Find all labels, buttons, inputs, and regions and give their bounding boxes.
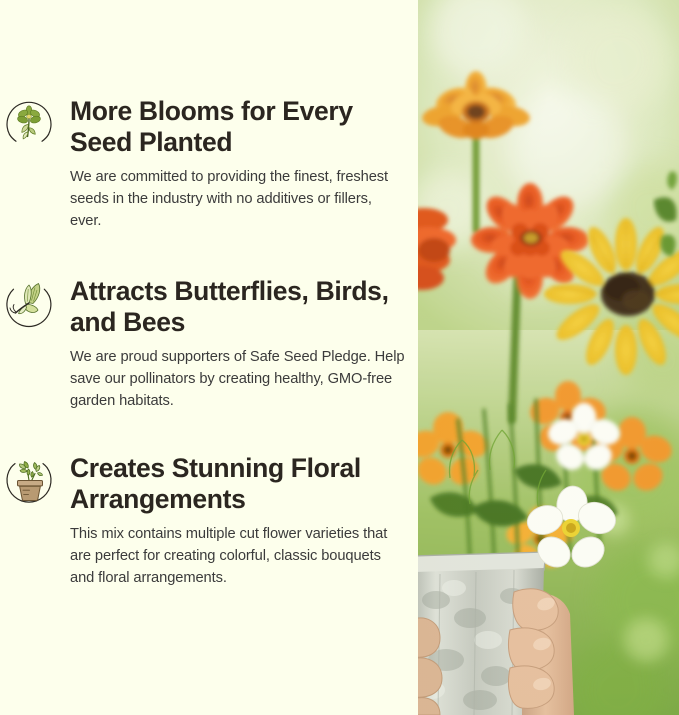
feature-title: More Blooms for Every Seed Planted bbox=[70, 96, 406, 159]
feature-description: We are proud supporters of Safe Seed Ple… bbox=[70, 346, 406, 412]
flower-in-circle-icon bbox=[2, 96, 56, 150]
feature-text-block: More Blooms for Every Seed Planted We ar… bbox=[56, 96, 418, 232]
feature-description: This mix contains multiple cut flower va… bbox=[70, 523, 406, 589]
features-list: More Blooms for Every Seed Planted We ar… bbox=[0, 0, 418, 715]
photo-illustration bbox=[418, 0, 679, 715]
feature-description: We are committed to providing the finest… bbox=[70, 166, 406, 232]
product-photo bbox=[418, 0, 679, 715]
feature-title: Attracts Butterflies, Birds, and Bees bbox=[70, 276, 406, 339]
feature-text-block: Creates Stunning Floral Arrangements Thi… bbox=[56, 453, 418, 589]
feature-text-block: Attracts Butterflies, Birds, and Bees We… bbox=[56, 276, 418, 412]
feature-title: Creates Stunning Floral Arrangements bbox=[70, 453, 406, 516]
feature-item-more-blooms: More Blooms for Every Seed Planted We ar… bbox=[0, 96, 418, 232]
potted-plant-in-circle-icon bbox=[2, 453, 56, 507]
butterfly-in-circle-icon bbox=[2, 276, 56, 330]
feature-item-floral-arrangements: Creates Stunning Floral Arrangements Thi… bbox=[0, 453, 418, 589]
product-feature-panel: More Blooms for Every Seed Planted We ar… bbox=[0, 0, 679, 715]
feature-item-attracts-pollinators: Attracts Butterflies, Birds, and Bees We… bbox=[0, 276, 418, 412]
